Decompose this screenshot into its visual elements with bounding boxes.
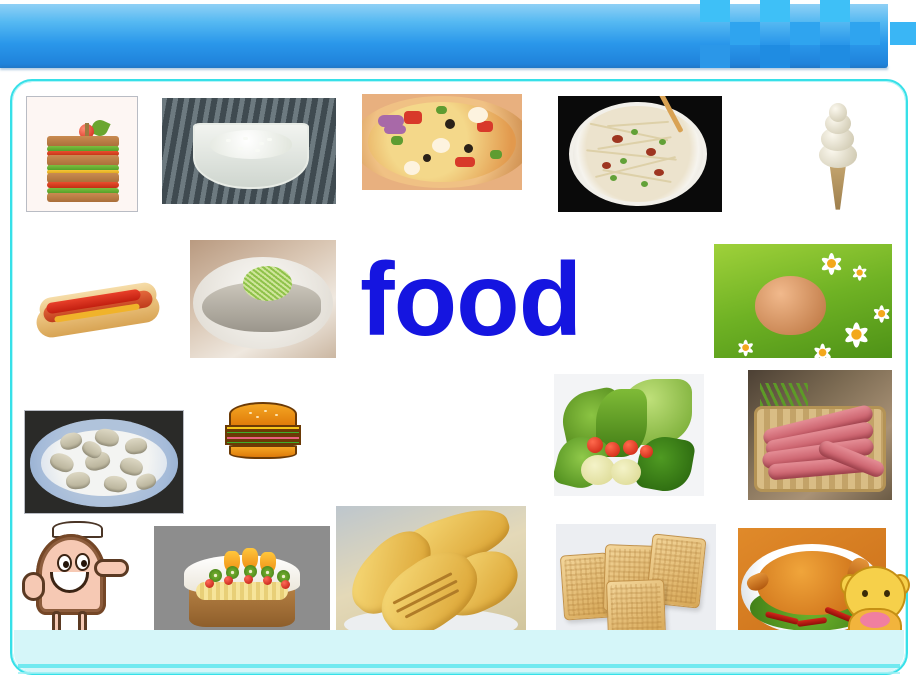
image-dumplings — [24, 410, 184, 514]
image-rice-bowl — [162, 98, 336, 204]
image-steamed-fish — [190, 240, 336, 358]
image-hot-dog — [24, 266, 172, 350]
image-sandwich — [26, 96, 138, 212]
image-bread-loaves — [336, 506, 526, 644]
image-noodles — [558, 96, 722, 212]
image-pizza — [362, 94, 522, 190]
image-vegetables — [554, 374, 704, 496]
header-bar-shadow — [0, 66, 888, 70]
image-ice-cream — [796, 96, 878, 212]
image-biscuits — [556, 524, 716, 640]
slide-canvas: food — [0, 0, 920, 690]
image-fruit-cake — [154, 526, 330, 638]
footer-rule-secondary — [18, 672, 900, 674]
page-title: food — [360, 248, 581, 352]
image-sausages — [748, 370, 892, 500]
image-hamburger-clipart — [222, 398, 304, 460]
image-egg-on-grass — [714, 244, 892, 358]
footer-rule — [18, 664, 900, 668]
